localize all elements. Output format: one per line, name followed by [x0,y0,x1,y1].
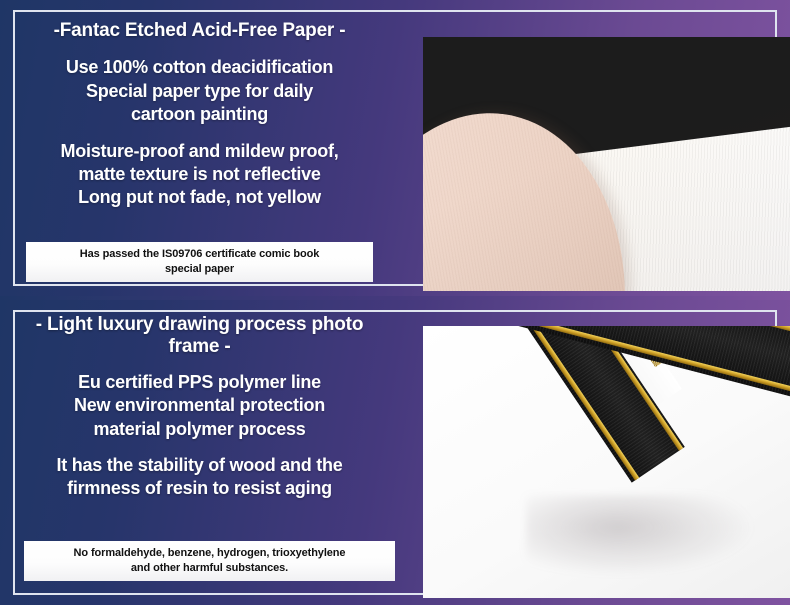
frame-stability-paragraph: It has the stability of wood and the fir… [24,454,375,501]
paper-moisture-paragraph: Moisture-proof and mildew proof, matte t… [24,140,375,210]
frame-feature-panel: - Light luxury drawing process photo fra… [0,300,790,605]
paper-panel-text-column: -Fantac Etched Acid-Free Paper - Use 100… [18,20,381,210]
frame-panel-text-column: - Light luxury drawing process photo fra… [18,314,381,501]
paper-moisture-line-3: Long put not fade, not yellow [24,186,375,209]
paper-panel-headline: -Fantac Etched Acid-Free Paper - [24,20,375,42]
paper-cotton-line-1: Use 100% cotton deacidification [24,56,375,79]
paper-photo-shading [423,37,790,291]
product-feature-infographic: -Fantac Etched Acid-Free Paper - Use 100… [0,0,790,605]
paper-photo [423,37,790,291]
frame-polymer-line-1: Eu certified PPS polymer line [24,371,375,394]
frame-headline-line-1: - Light luxury drawing process [36,314,307,335]
paper-cotton-paragraph: Use 100% cotton deacidification Special … [24,56,375,126]
paper-cotton-line-3: cartoon painting [24,103,375,126]
paper-moisture-line-1: Moisture-proof and mildew proof, [24,140,375,163]
iso-certificate-line-2: special paper [32,262,367,277]
paper-moisture-line-2: matte texture is not reflective [24,163,375,186]
paper-cotton-line-2: Special paper type for daily [24,80,375,103]
iso-certificate-line-1: Has passed the IS09706 certificate comic… [32,247,367,262]
frame-polymer-paragraph: Eu certified PPS polymer line New enviro… [24,371,375,441]
frame-stability-line-1: It has the stability of wood and the [24,454,375,477]
frame-photo [423,326,790,598]
frame-polymer-line-2: New environmental protection [24,394,375,417]
frame-photo-drop-shadow [526,495,755,577]
paper-feature-panel: -Fantac Etched Acid-Free Paper - Use 100… [0,0,790,296]
frame-polymer-line-3: material polymer process [24,418,375,441]
frame-stability-line-2: firmness of resin to resist aging [24,477,375,500]
iso-certificate-strip: Has passed the IS09706 certificate comic… [26,242,373,282]
harmful-substances-strip: No formaldehyde, benzene, hydrogen, trio… [24,541,395,581]
harmful-substances-line-2: and other harmful substances. [30,561,389,576]
frame-panel-headline: - Light luxury drawing process photo fra… [24,314,375,359]
harmful-substances-line-1: No formaldehyde, benzene, hydrogen, trio… [30,546,389,561]
